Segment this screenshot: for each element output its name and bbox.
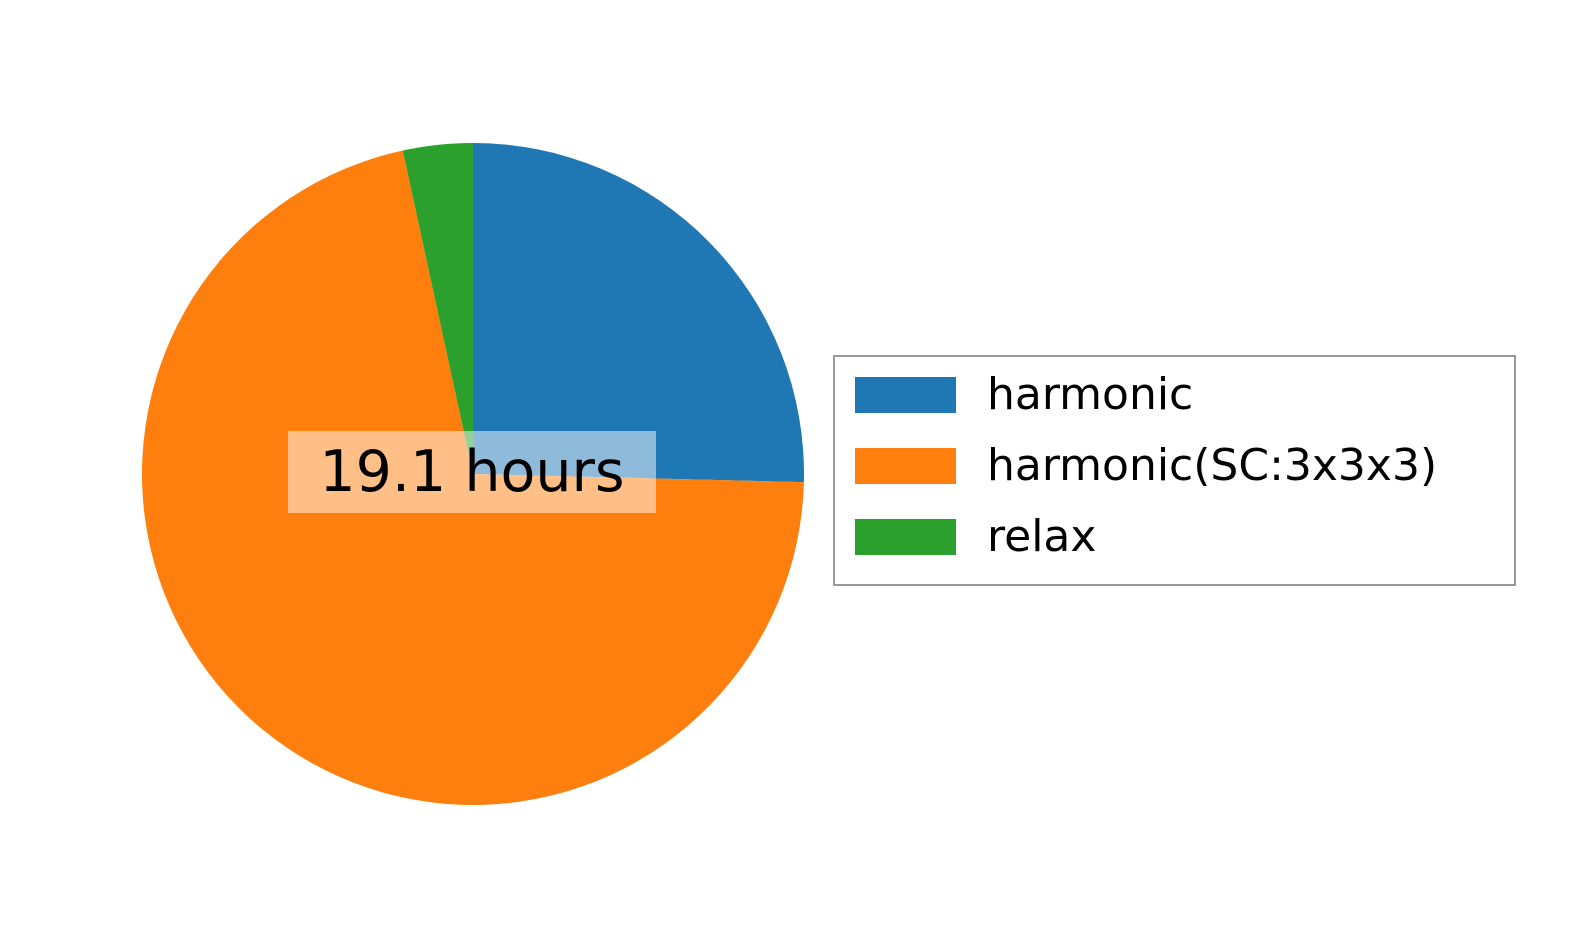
legend-swatch-harmonic — [855, 377, 956, 413]
legend-item-harmonic-sc-3x3x3[interactable]: harmonic(SC:3x3x3) — [835, 440, 1514, 492]
pie-chart-figure: 19.1 hours harmonic harmonic(SC:3x3x3) r… — [0, 0, 1584, 951]
legend-swatch-relax — [855, 519, 956, 555]
legend-label-harmonic-sc-3x3x3: harmonic(SC:3x3x3) — [987, 444, 1437, 488]
legend: harmonic harmonic(SC:3x3x3) relax — [833, 355, 1516, 586]
legend-label-harmonic: harmonic — [987, 373, 1193, 417]
center-total-label-text: 19.1 hours — [319, 444, 624, 501]
legend-item-harmonic[interactable]: harmonic — [835, 369, 1514, 421]
legend-swatch-harmonic-sc-3x3x3 — [855, 448, 956, 484]
legend-label-relax: relax — [987, 515, 1096, 559]
center-total-label: 19.1 hours — [288, 431, 656, 513]
legend-item-relax[interactable]: relax — [835, 511, 1514, 563]
